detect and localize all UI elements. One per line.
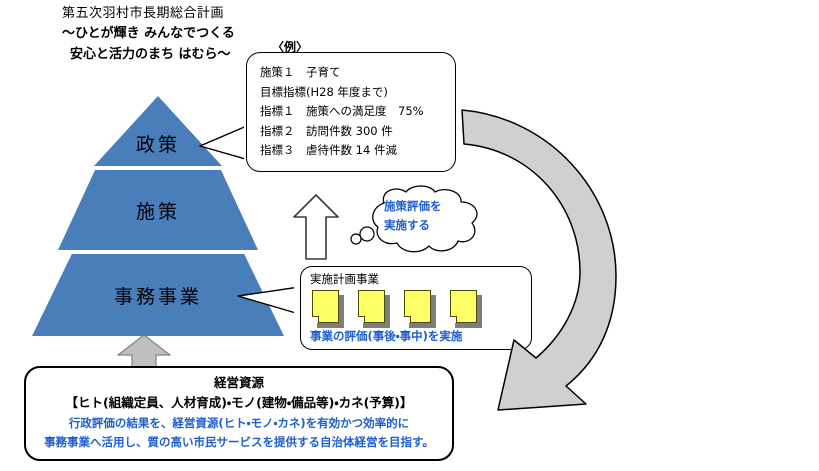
example-line-4: 指標２ 訪問件数 300 件 xyxy=(260,122,450,142)
diagram-canvas: 第五次羽村市長期総合計画 ～ひとが輝き みんなでつくる 安心と活力のまち はむら… xyxy=(0,0,819,471)
up-arrow-icon xyxy=(292,193,340,261)
title-line-1: 第五次羽村市長期総合計画 xyxy=(62,4,382,23)
implementation-box-tail xyxy=(236,284,308,318)
management-box-heading: 経営資源 xyxy=(24,372,454,391)
pyramid-tier-measures: 施策 xyxy=(58,170,258,250)
example-callout: 施策１ 子育て 目標指標(H28 年度まで) 指標１ 施策への満足度 75% 指… xyxy=(246,52,456,172)
management-resources-box: 経営資源 【ヒト(組織定員、人材育成)・モノ(建物・備品等)・カネ(予算)】 行… xyxy=(24,366,454,461)
feedback-curved-arrow xyxy=(440,104,640,424)
management-box-resources: 【ヒト(組織定員、人材育成)・モノ(建物・備品等)・カネ(予算)】 xyxy=(24,392,454,411)
example-line-5: 指標３ 虐待件数 14 件減 xyxy=(260,141,450,161)
example-line-3: 指標１ 施策への満足度 75% xyxy=(260,102,450,122)
pyramid-tier-measures-label: 施策 xyxy=(136,197,180,224)
example-line-2: 目標指標(H28 年度まで) xyxy=(260,83,450,103)
title-line-2: ～ひとが輝き みんなでつくる xyxy=(62,23,382,44)
implementation-box-title: 実施計画事業 xyxy=(310,271,379,287)
pyramid-tier-operations-label: 事務事業 xyxy=(114,282,202,309)
pyramid-tier-policy-label: 政策 xyxy=(136,130,180,157)
management-box-note-line-1: 行政評価の結果を、経営資源(ヒト・モノ・カネ)を有効かつ効率的に xyxy=(24,415,454,431)
example-line-1: 施策１ 子育て xyxy=(260,63,450,83)
document-icon xyxy=(358,290,385,323)
document-icon xyxy=(312,290,339,323)
document-icon xyxy=(404,290,431,323)
management-box-note-line-2: 事務事業へ活用し、質の高い市民サービスを提供する自治体経営を目指す。 xyxy=(24,434,454,450)
